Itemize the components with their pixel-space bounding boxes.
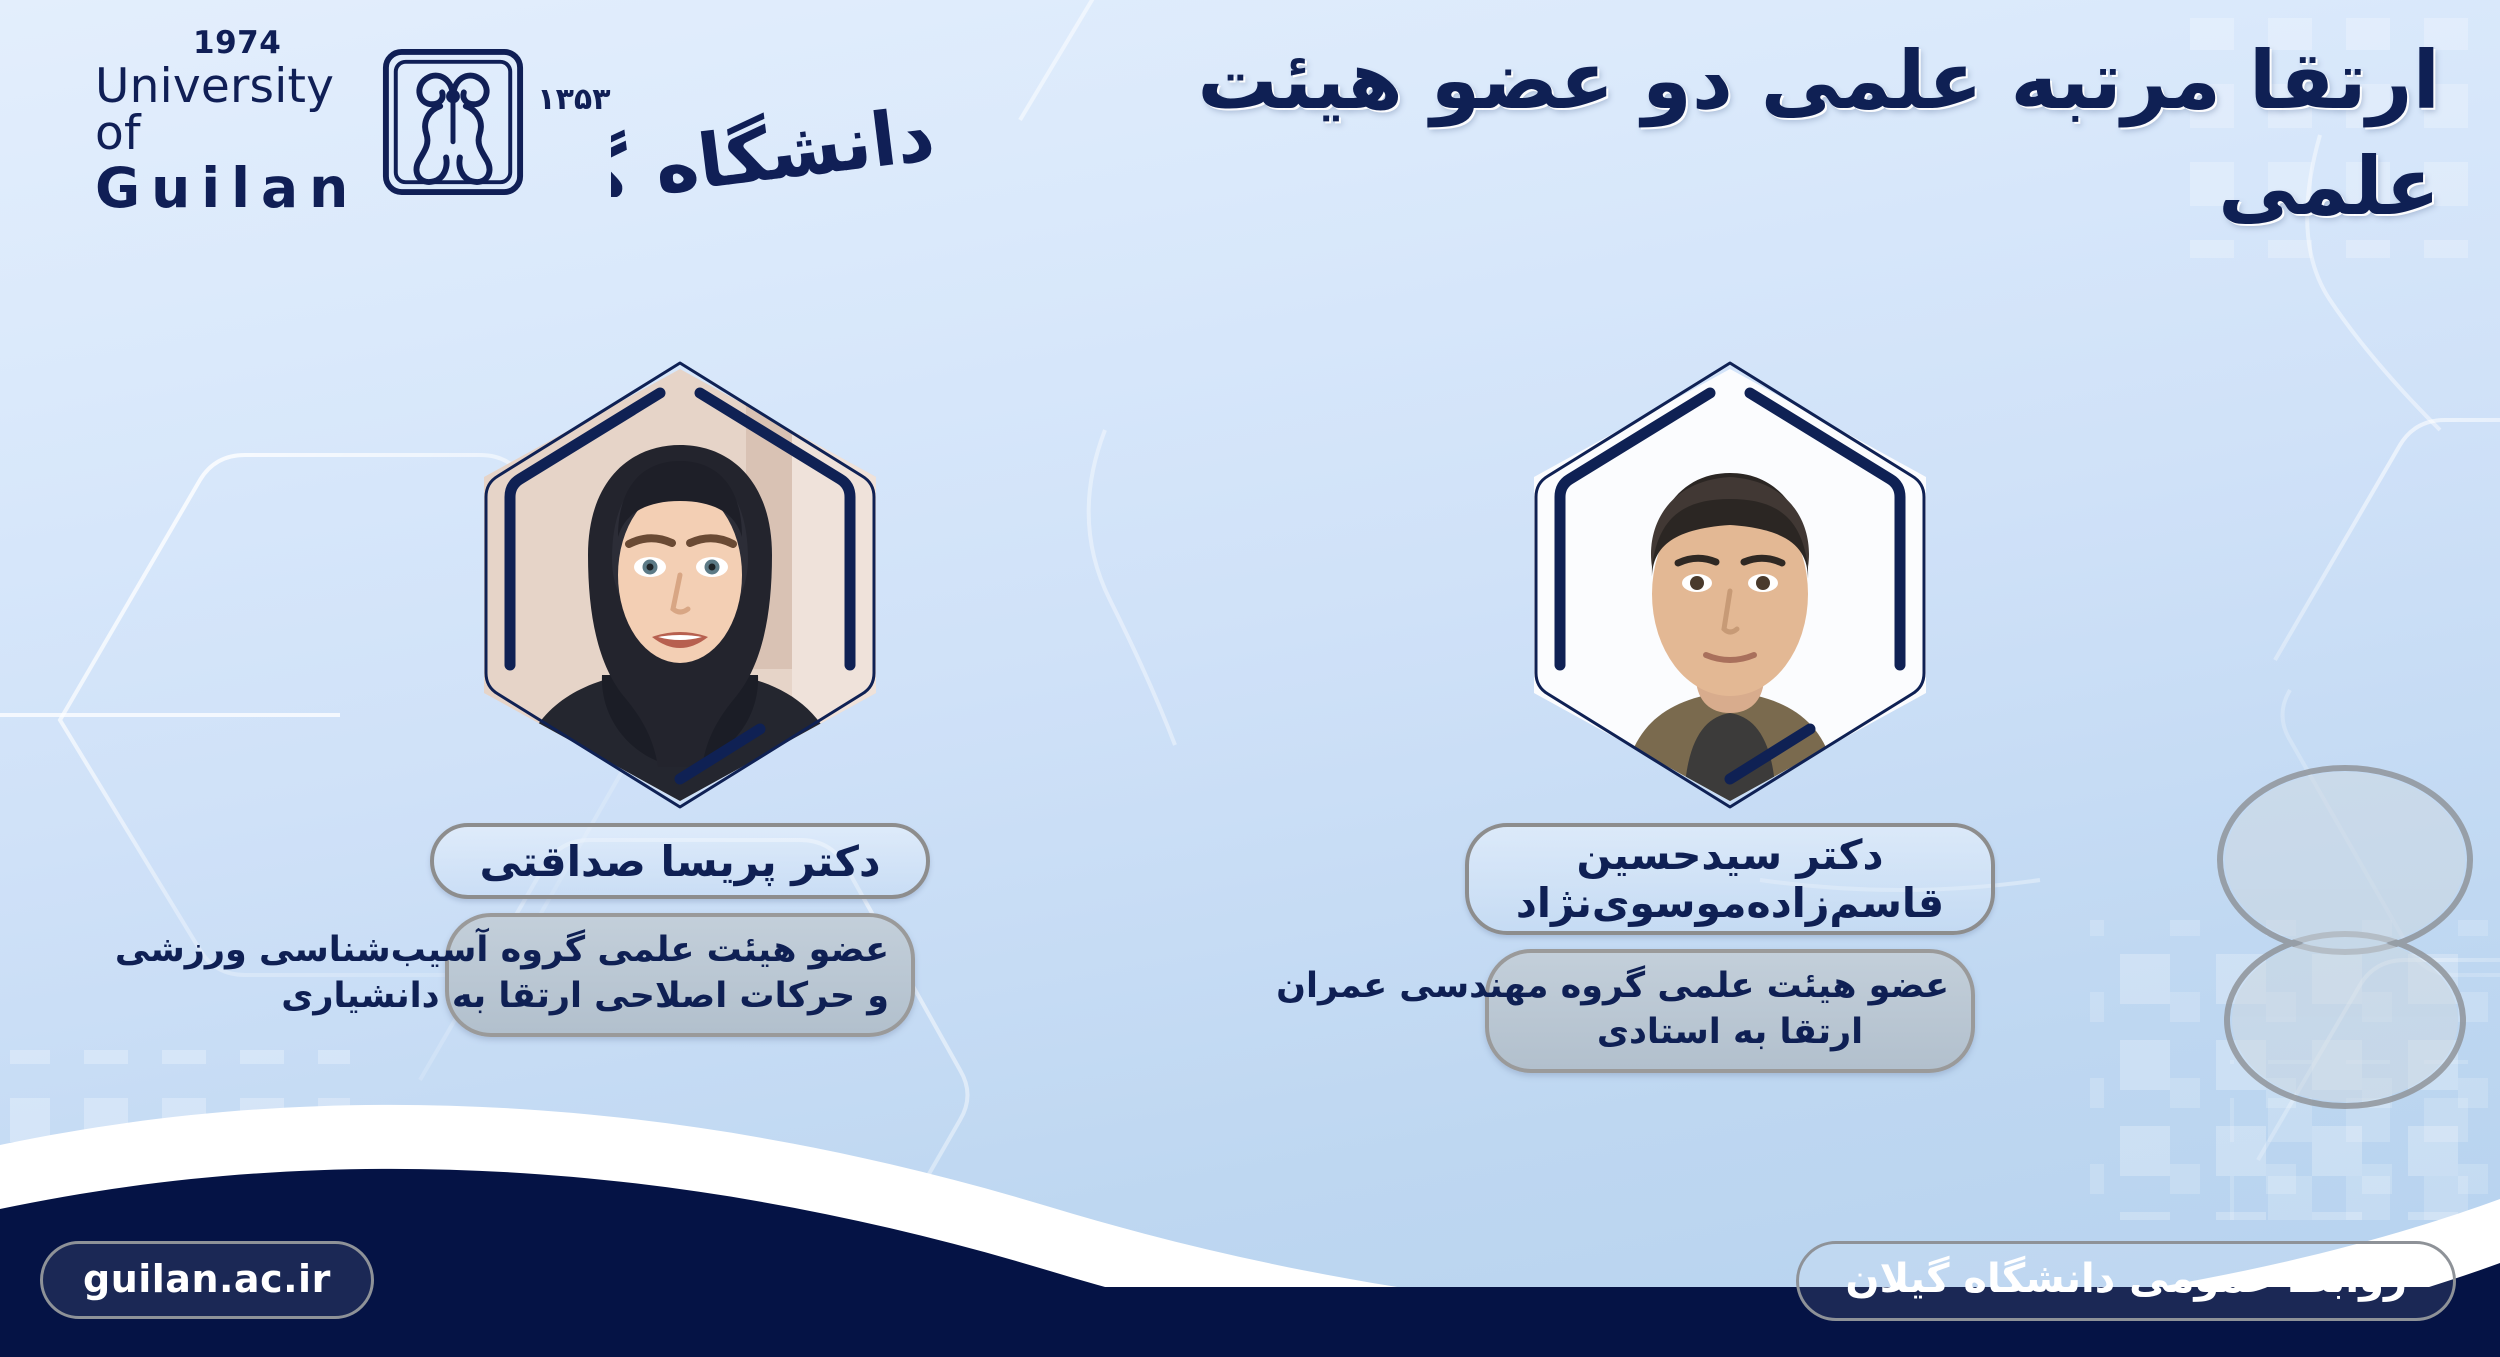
logo-year-english: 1974 xyxy=(193,28,281,59)
person-name: دکتر سیدحسین قاسم‌زاده‌موسوی‌نژاد xyxy=(1465,823,1995,935)
svg-text:دانشگاه گیلان: دانشگاه گیلان xyxy=(611,92,939,197)
person-name: دکتر پریسا صداقتی xyxy=(430,823,930,899)
hexagon-frame-icon xyxy=(470,355,890,815)
page-title: ارتقا مرتبه علمی دو عضو هیئت علمی xyxy=(1020,28,2440,239)
logo-english-block: 1974 University of Guilan xyxy=(95,28,365,216)
avatar xyxy=(1520,355,1940,815)
logo-guilan-word: Guilan xyxy=(95,161,359,216)
logo-persian-block: دانشگاه گیلان ۱۳۵۳ xyxy=(533,47,940,197)
hexagon-frame-icon xyxy=(1520,355,1940,815)
logo-year-persian: ۱۳۵۳ xyxy=(537,82,610,117)
logo-university-word: University of xyxy=(95,63,365,157)
public-relations-badge: روابط عمومی دانشگاه گیلان xyxy=(1796,1241,2456,1321)
website-url-badge[interactable]: guilan.ac.ir xyxy=(40,1241,374,1319)
poster-canvas: 1974 University of Guilan دانشگاه گیلان … xyxy=(0,0,2500,1357)
university-logo: 1974 University of Guilan دانشگاه گیلان … xyxy=(95,42,795,202)
person-card: دکتر پریسا صداقتی عضو هیئت علمی گروه آسی… xyxy=(380,355,980,1037)
guilan-emblem-icon xyxy=(379,47,527,197)
logo-persian-script: دانشگاه گیلان xyxy=(611,47,941,197)
avatar xyxy=(470,355,890,815)
